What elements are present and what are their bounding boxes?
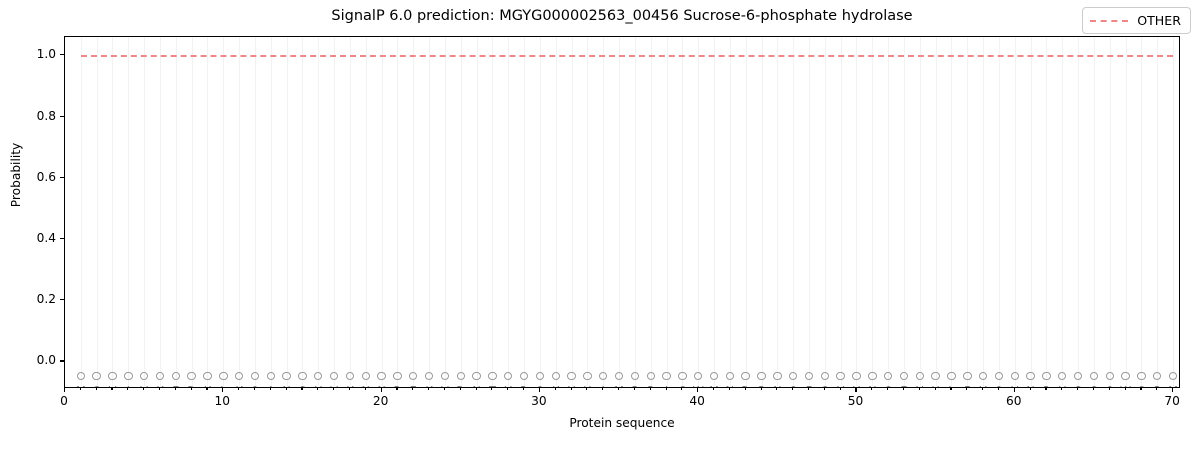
- x-tick-mark-minor: [1077, 388, 1078, 390]
- y-axis-label: Probability: [9, 125, 23, 225]
- x-tick-mark-minor: [919, 388, 920, 390]
- x-tick-mark-minor: [333, 388, 334, 390]
- x-tick-mark-minor: [143, 388, 144, 390]
- x-tick-mark-minor: [80, 388, 81, 390]
- x-tick-mark-minor: [1030, 388, 1031, 390]
- x-tick-mark-minor: [666, 388, 667, 390]
- x-tick-mark-minor: [238, 388, 239, 390]
- y-tick-label: 1.0: [37, 48, 56, 60]
- x-tick-mark-minor: [982, 388, 983, 390]
- x-tick-mark-minor: [729, 388, 730, 390]
- x-tick-mark-minor: [1109, 388, 1110, 390]
- y-tick-mark: [60, 54, 64, 55]
- x-tick-mark-minor: [1045, 388, 1046, 390]
- y-tick-mark: [60, 116, 64, 117]
- x-tick-mark-minor: [159, 388, 160, 390]
- x-tick-mark-minor: [96, 388, 97, 390]
- x-axis: Protein sequence 010203040506070: [0, 388, 1200, 450]
- x-tick-mark-minor: [396, 388, 397, 390]
- chart-title: SignalP 6.0 prediction: MGYG000002563_00…: [64, 8, 1180, 24]
- x-tick-mark-minor: [349, 388, 350, 390]
- y-tick-label: 0.4: [37, 232, 56, 244]
- x-tick-mark-minor: [903, 388, 904, 390]
- x-tick-mark-minor: [571, 388, 572, 390]
- x-tick-mark-minor: [824, 388, 825, 390]
- x-tick-mark-minor: [808, 388, 809, 390]
- y-tick-label: 0.6: [37, 171, 56, 183]
- x-tick-mark-minor: [950, 388, 951, 390]
- x-tick-mark-minor: [618, 388, 619, 390]
- x-tick-mark-minor: [191, 388, 192, 390]
- legend-line-swatch: [1090, 20, 1128, 22]
- x-tick-mark-minor: [602, 388, 603, 390]
- x-tick-mark-minor: [681, 388, 682, 390]
- x-tick-mark-minor: [412, 388, 413, 390]
- x-tick-mark-minor: [317, 388, 318, 390]
- y-tick-mark: [60, 360, 64, 361]
- x-tick-mark-minor: [1156, 388, 1157, 390]
- x-tick-label: 30: [519, 394, 559, 408]
- x-tick-mark-minor: [286, 388, 287, 390]
- x-tick-mark-minor: [713, 388, 714, 390]
- x-tick-mark-minor: [428, 388, 429, 390]
- x-tick-label: 40: [677, 394, 717, 408]
- y-tick-label: 0.2: [37, 293, 56, 305]
- y-axis: Probability 0.00.20.40.60.81.0: [0, 0, 64, 450]
- x-tick-mark-minor: [887, 388, 888, 390]
- x-tick-label: 60: [994, 394, 1034, 408]
- x-tick-mark-minor: [634, 388, 635, 390]
- legend: OTHER: [1082, 7, 1191, 34]
- x-tick-mark-minor: [365, 388, 366, 390]
- y-tick-mark: [60, 177, 64, 178]
- x-tick-mark: [1172, 388, 1173, 392]
- x-tick-mark-minor: [1061, 388, 1062, 390]
- x-tick-mark-minor: [523, 388, 524, 390]
- x-tick-mark-minor: [555, 388, 556, 390]
- x-tick-mark: [64, 388, 65, 392]
- x-tick-mark-minor: [127, 388, 128, 390]
- x-tick-label: 20: [361, 394, 401, 408]
- x-tick-mark-minor: [871, 388, 872, 390]
- x-tick-mark-minor: [476, 388, 477, 390]
- residue-letter-layer: MSVIVKEDKLKQANSYVKNNREKVDNTYRQKYHIMPPIGW…: [65, 37, 1179, 387]
- x-tick-mark-minor: [998, 388, 999, 390]
- x-tick-label: 0: [44, 394, 84, 408]
- x-tick-mark-minor: [1125, 388, 1126, 390]
- x-tick-mark-minor: [966, 388, 967, 390]
- x-tick-mark: [697, 388, 698, 392]
- x-tick-mark-minor: [935, 388, 936, 390]
- x-tick-label: 70: [1152, 394, 1192, 408]
- plot-area: MSVIVKEDKLKQANSYVKNNREKVDNTYRQKYHIMPPIGW…: [64, 36, 1180, 388]
- x-tick-mark-minor: [270, 388, 271, 390]
- x-tick-mark-minor: [175, 388, 176, 390]
- x-tick-mark-minor: [1140, 388, 1141, 390]
- y-tick-label: 0.8: [37, 110, 56, 122]
- x-tick-label: 10: [202, 394, 242, 408]
- x-tick-mark-minor: [586, 388, 587, 390]
- x-tick-mark-minor: [301, 388, 302, 390]
- x-tick-mark: [1014, 388, 1015, 392]
- x-tick-mark-minor: [507, 388, 508, 390]
- x-tick-mark-minor: [460, 388, 461, 390]
- x-tick-mark-minor: [650, 388, 651, 390]
- legend-label: OTHER: [1137, 13, 1181, 28]
- x-tick-mark-minor: [111, 388, 112, 390]
- x-tick-mark-minor: [776, 388, 777, 390]
- x-tick-mark-minor: [840, 388, 841, 390]
- x-tick-mark: [539, 388, 540, 392]
- x-tick-mark: [855, 388, 856, 392]
- x-tick-mark-minor: [491, 388, 492, 390]
- signalp-prediction-figure: SignalP 6.0 prediction: MGYG000002563_00…: [0, 0, 1200, 450]
- x-tick-label: 50: [835, 394, 875, 408]
- x-axis-label: Protein sequence: [64, 416, 1180, 430]
- x-tick-mark-minor: [206, 388, 207, 390]
- y-tick-label: 0.0: [37, 354, 56, 366]
- y-tick-mark: [60, 238, 64, 239]
- x-tick-mark-minor: [761, 388, 762, 390]
- x-tick-mark: [222, 388, 223, 392]
- x-tick-mark-minor: [745, 388, 746, 390]
- y-tick-mark: [60, 299, 64, 300]
- x-tick-mark-minor: [1093, 388, 1094, 390]
- x-tick-mark: [381, 388, 382, 392]
- x-tick-mark-minor: [254, 388, 255, 390]
- x-tick-mark-minor: [792, 388, 793, 390]
- x-tick-mark-minor: [444, 388, 445, 390]
